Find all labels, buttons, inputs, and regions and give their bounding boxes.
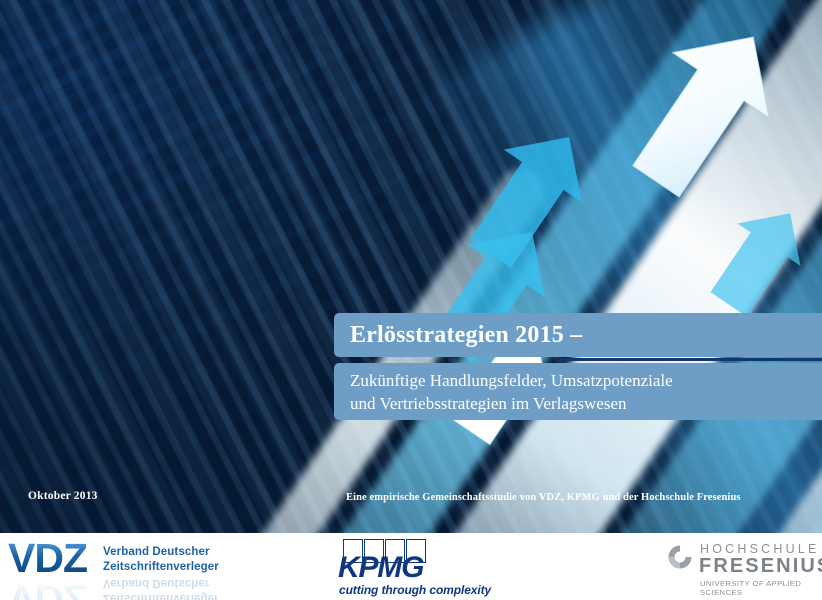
cover-hero-image: Erlösstrategien 2015 – Zukünftige Handlu… bbox=[0, 0, 822, 533]
cover-title-main: Erlösstrategien 2015 – bbox=[334, 313, 822, 357]
logo-fresenius: HOCHSCHULE FRESENIUS UNIVERSITY OF APPLI… bbox=[666, 539, 818, 595]
kpmg-wordmark: KPMG bbox=[338, 551, 423, 585]
vdz-wordmark-reflection: VDZ bbox=[8, 578, 87, 600]
kpmg-tagline: cutting through complexity bbox=[339, 583, 491, 597]
vdz-tagline-line2: Zeitschriftenverleger bbox=[103, 560, 219, 575]
cover-page: Erlösstrategien 2015 – Zukünftige Handlu… bbox=[0, 0, 822, 600]
fresenius-hochschule-text: HOCHSCHULE bbox=[700, 542, 820, 556]
footer-logo-bar: VDZ VDZ Verband Deutscher Zeitschriftenv… bbox=[0, 533, 822, 600]
spiral-icon bbox=[666, 543, 694, 571]
vdz-tagline-refl-line2: Verband Deutscher bbox=[103, 575, 219, 590]
cover-title-sub-line2: und Vertriebsstrategien im Verlagswesen bbox=[350, 392, 822, 415]
arrow-white-large-icon bbox=[612, 20, 797, 200]
vdz-tagline: Verband Deutscher Zeitschriftenverleger bbox=[103, 545, 219, 575]
cover-title-sub: Zukünftige Handlungsfelder, Umsatzpotenz… bbox=[334, 363, 822, 420]
study-description: Eine empirische Gemeinschaftsstudie von … bbox=[346, 492, 741, 503]
title-separator-rule bbox=[560, 358, 822, 361]
fresenius-subtitle: UNIVERSITY OF APPLIED SCIENCES bbox=[700, 579, 818, 597]
vdz-tagline-refl-line1: Zeitschriftenverleger bbox=[103, 590, 219, 600]
cover-title-main-text: Erlösstrategien 2015 – bbox=[350, 322, 822, 349]
publication-date: Oktober 2013 bbox=[28, 490, 98, 502]
arrow-cyan-right-icon bbox=[700, 198, 820, 318]
vdz-tagline-line1: Verband Deutscher bbox=[103, 545, 219, 560]
logo-vdz: VDZ VDZ Verband Deutscher Zeitschriftenv… bbox=[8, 537, 298, 599]
logo-kpmg: KPMG cutting through complexity bbox=[338, 539, 508, 597]
fresenius-wordmark: FRESENIUS bbox=[699, 555, 822, 578]
vdz-tagline-reflection: Zeitschriftenverleger Verband Deutscher bbox=[103, 575, 219, 600]
cover-title-sub-line1: Zukünftige Handlungsfelder, Umsatzpotenz… bbox=[350, 369, 822, 392]
